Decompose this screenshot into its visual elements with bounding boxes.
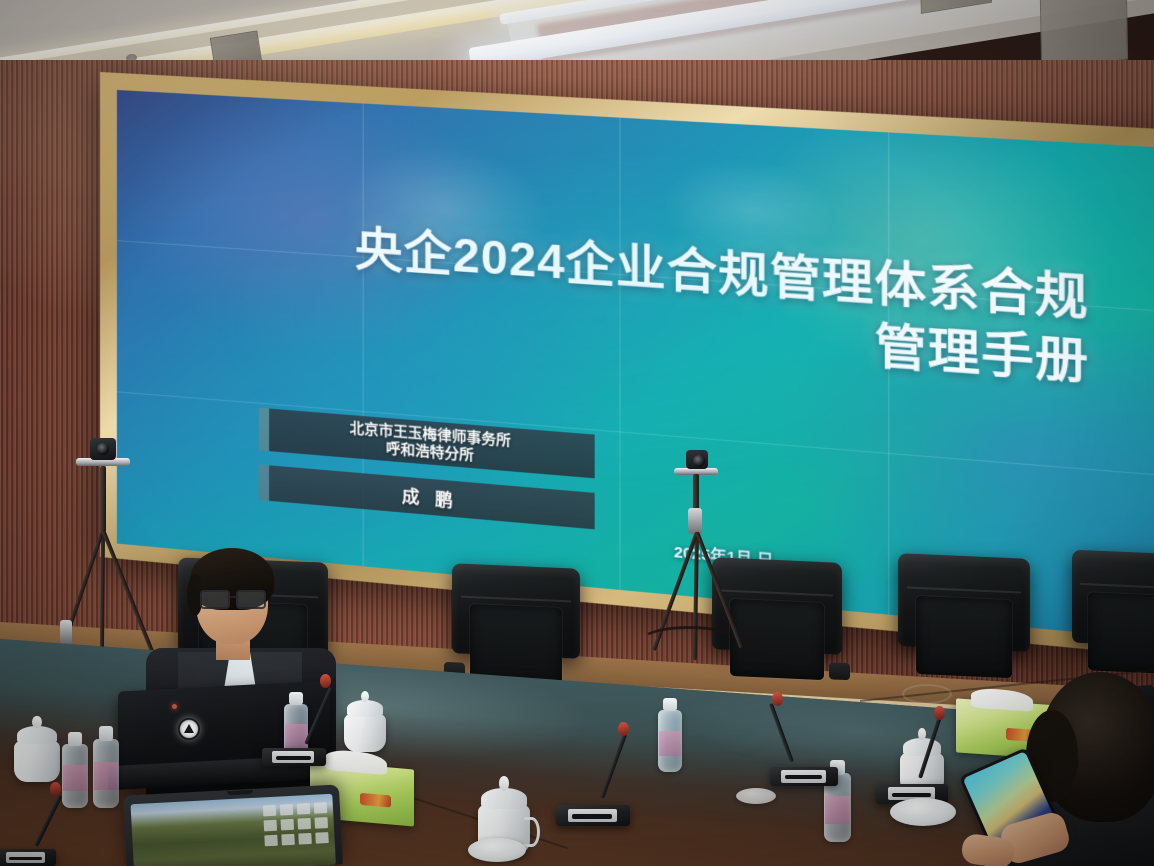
bottle-cap (289, 692, 302, 705)
cup-lid (903, 738, 942, 756)
cup-lid (481, 788, 527, 809)
mic-talk-button[interactable] (892, 793, 931, 797)
water-bottle-1[interactable] (62, 732, 88, 808)
teacup-1[interactable] (14, 726, 60, 782)
mic-capsule-icon (50, 782, 61, 796)
mic-capsule-icon (772, 692, 783, 706)
desktop-icon[interactable] (297, 818, 311, 830)
phone-user-hair (1040, 672, 1154, 822)
bottle-label (63, 765, 87, 791)
saucer-2[interactable] (468, 838, 526, 862)
mic-talk-button[interactable] (276, 756, 311, 760)
floor-cable-3 (640, 626, 738, 656)
mic-talk-button[interactable] (9, 857, 41, 861)
table-ring-mark-2 (902, 684, 952, 704)
presenter-name-box: 成 鹏 (259, 465, 595, 530)
mic-capsule-icon (618, 722, 629, 736)
mic-talk-button[interactable] (572, 814, 612, 819)
mic-capsule-icon (934, 706, 945, 720)
desktop-icon[interactable] (280, 804, 294, 816)
chair-cushion (1088, 592, 1154, 674)
water-bottle-2[interactable] (93, 726, 119, 808)
bottle-label (94, 762, 118, 790)
tripod-center-column (100, 466, 106, 532)
tripod-clamp (60, 620, 72, 644)
desktop-icon[interactable] (263, 805, 277, 817)
bottle-cap (68, 732, 83, 746)
chair-4[interactable] (1072, 550, 1154, 681)
cup-lid-knob (32, 716, 41, 728)
mic-far-left[interactable] (0, 830, 56, 866)
water-bottle-4[interactable] (658, 698, 682, 772)
foreground-laptop-screen[interactable] (131, 794, 336, 866)
desktop-icon[interactable] (298, 833, 312, 845)
desktop-icon[interactable] (315, 832, 329, 844)
bottle-label (825, 796, 850, 824)
desktop-icon[interactable] (281, 819, 295, 831)
cup-lid-knob (499, 776, 509, 791)
saucer-3[interactable] (736, 788, 776, 804)
foreground-laptop[interactable] (123, 784, 343, 866)
laptop-power-led (172, 704, 177, 709)
bottle-cap (663, 698, 676, 711)
mic-capsule-icon (320, 674, 331, 688)
chair-1[interactable] (452, 563, 580, 691)
laptop-webcam-icon (227, 790, 253, 795)
presenter-name: 成 鹏 (402, 487, 458, 511)
chair-cushion (470, 604, 562, 684)
mic-right-2[interactable] (876, 760, 948, 804)
camera-icon (686, 450, 708, 469)
desktop-icon[interactable] (314, 802, 328, 814)
desktop-icon[interactable] (264, 835, 278, 847)
glasses-icon (200, 590, 266, 606)
chair-armrest-right (829, 663, 850, 680)
teacup-2[interactable] (344, 700, 386, 752)
chair-3[interactable] (898, 553, 1030, 685)
mic-right-1[interactable] (770, 744, 838, 786)
desktop-icon[interactable] (281, 834, 295, 846)
desktop-icons[interactable] (263, 802, 329, 846)
cup-body (344, 714, 386, 752)
cup-lid (17, 726, 57, 744)
glasses-lens-right (236, 590, 266, 609)
glasses-lens-left (200, 590, 230, 609)
desktop-icon[interactable] (264, 820, 278, 832)
desktop-icon[interactable] (314, 817, 328, 829)
desktop-icon[interactable] (297, 803, 311, 815)
tripod-clamp (688, 508, 702, 534)
organization-box: 北京市王玉梅律师事务所 呼和浩特分所 (259, 407, 595, 478)
glasses-bridge (227, 596, 239, 598)
saucer-1[interactable] (890, 798, 956, 826)
camera-icon (90, 438, 116, 460)
cup-lid (347, 700, 384, 717)
chair-cushion (916, 596, 1011, 678)
laptop-brand-logo-icon (178, 718, 200, 740)
bottle-label (659, 731, 681, 756)
tripod-camera-center[interactable] (666, 452, 756, 652)
mic-center[interactable] (556, 780, 630, 826)
mic-presenter[interactable] (262, 726, 326, 766)
slide-title: 央企2024企业合规管理体系合规 管理手册 (205, 209, 1089, 393)
mic-talk-button[interactable] (785, 775, 822, 779)
bottle-cap (99, 726, 114, 741)
conference-room-scene: 央企2024企业合规管理体系合规 管理手册 北京市王玉梅律师事务所 呼和浩特分所… (0, 0, 1154, 866)
cup-body (14, 741, 60, 782)
